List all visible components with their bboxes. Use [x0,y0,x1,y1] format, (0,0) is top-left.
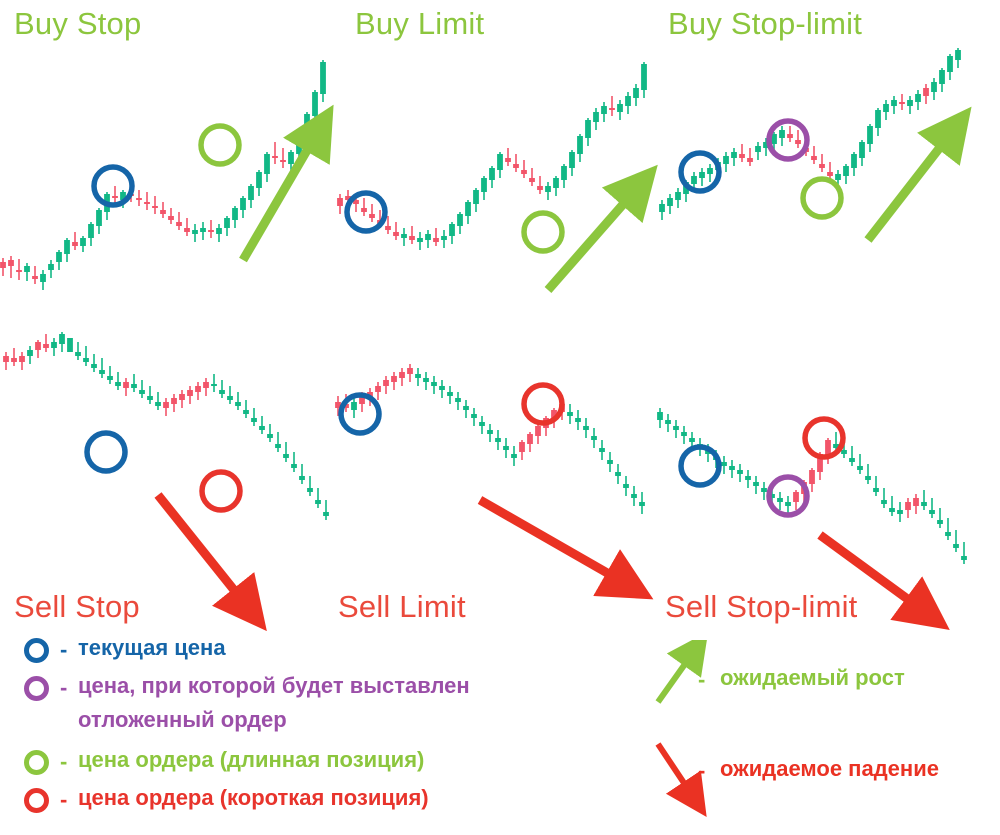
candle-body [407,368,413,374]
arrow-legend-label-growth: ожидаемый рост [720,665,905,691]
candle-body [3,356,9,362]
candle [721,456,727,474]
candle-body [481,178,487,192]
candle-body [417,238,423,242]
candle [537,176,543,194]
candle-body [601,106,607,114]
candle-body [208,230,214,232]
candle [599,440,605,460]
candle-body [639,502,645,506]
candle-body [24,266,30,272]
candle [953,530,959,552]
candle [351,398,357,418]
candle [463,400,469,418]
legend-ring-short-order-price [24,788,49,813]
candle-body [511,454,517,458]
candle [607,452,613,472]
candle-body [59,334,65,344]
candle-body [337,198,343,206]
candle [393,222,399,240]
candle-body [675,192,681,200]
candle-body [937,520,943,524]
trend-arrow-up [243,128,320,260]
candle-body [575,418,581,422]
candle-body [369,214,375,218]
candle-body [64,240,70,254]
candle [731,148,737,166]
marker-short-order-price [524,385,562,423]
legend-item-trigger-price: - цена, при которой будет выставлен [0,670,640,704]
candle-body [272,156,278,158]
candle [593,108,599,130]
candle-body [147,396,153,400]
candle-body [931,82,937,92]
candle [487,424,493,442]
candle [915,90,921,110]
trend-arrow-down [820,535,928,614]
candle-body [535,426,541,436]
candle-body [200,228,206,232]
candle-body [809,470,815,484]
candle-body [32,276,38,279]
legend-dash: - [60,787,67,813]
candle [739,144,745,162]
candle-body [75,352,81,356]
candle-body [641,64,647,90]
candle-body [835,174,841,180]
candle [489,166,495,188]
candle [851,152,857,176]
candle-body [731,152,737,158]
candle [755,142,761,160]
candle [423,372,429,390]
candle [577,134,583,162]
candle-body [447,392,453,396]
candle-body [351,402,357,410]
candle-body [593,112,599,122]
candle-body [136,198,142,200]
marker-long-order-price [201,126,239,164]
candle-body [915,94,921,102]
candle [891,96,897,114]
candle-body [131,384,137,388]
candle [291,452,297,472]
candle [575,410,581,430]
candle [32,266,38,284]
candle-body [569,152,575,168]
candle [521,160,527,178]
candle [24,263,30,281]
candle [59,332,65,352]
candle-body [160,210,166,214]
candle-body [19,356,25,362]
candle [83,346,89,366]
candle-body [755,146,761,152]
candle [535,424,541,444]
candle [152,196,158,214]
candle-body [155,402,161,406]
candle [80,236,86,252]
candle-body [615,472,621,476]
candle-body [455,398,461,402]
legend-ring-current-price [24,638,49,663]
candle-body [51,342,57,348]
candle [216,224,222,242]
candle [19,352,25,370]
candle-body [723,156,729,164]
candle [136,190,142,206]
candle-body [583,426,589,430]
candle-body [441,236,447,240]
candle [665,414,671,432]
candle [447,386,453,404]
candle [315,488,321,508]
candle-body [961,556,967,560]
candle [131,374,137,392]
candle [883,100,889,120]
candle [224,216,230,236]
candle-body [553,178,559,188]
candle [723,152,729,172]
legend-dash: - [60,749,67,775]
marker-long-order-price [524,213,562,251]
trend-arrow-up [868,128,955,240]
candle-body [280,160,286,162]
candle-body [107,376,113,380]
candle-body [841,450,847,454]
candle [641,62,647,98]
candle [43,334,49,352]
candle-body [489,168,495,180]
candle-body [463,406,469,410]
candle-body [267,434,273,438]
candle [897,502,903,522]
candle-body [304,114,310,136]
candle-body [99,370,105,374]
candle-body [224,218,230,228]
candle [195,382,201,400]
candle [200,222,206,240]
candle-body [219,390,225,394]
candle [699,168,705,186]
candle [248,184,254,208]
candle-body [867,126,873,144]
candle-body [67,338,73,352]
candle [675,188,681,208]
arrow-legend-dash: - [698,758,705,784]
candle-body [487,430,493,434]
candle-body [423,378,429,382]
candle [857,454,863,474]
candle [867,124,873,152]
candle [529,168,535,186]
candle-body [851,154,857,168]
candle [251,408,257,426]
candle-body [361,208,367,212]
legend-item-long-order-price: - цена ордера (длинная позиция) [0,744,640,782]
candle [431,376,437,394]
candle-body [35,342,41,350]
legend-dash: - [60,675,67,701]
candle-body [721,462,727,466]
candle-body [673,426,679,430]
legend-label-trigger-price-line2: отложенный ордер [78,707,287,733]
marker-short-order-price [805,419,843,457]
candle [433,228,439,246]
candle [849,446,855,466]
candle [272,142,278,164]
candle [519,440,525,460]
candle [947,54,953,80]
candle [0,258,6,276]
chart-panel-sell-stop-limit [657,408,967,614]
candle-body [913,498,919,506]
candle-body [567,412,573,416]
candle [639,492,645,514]
candle [729,460,735,478]
candle [881,488,887,508]
candle-body [883,104,889,112]
candle [553,176,559,196]
candle [505,148,511,166]
candle-body [793,492,799,502]
candle-body [495,438,501,442]
candle [219,380,225,398]
candle [383,376,389,394]
candle-body [399,372,405,378]
candle-body [144,202,150,204]
candle-body [275,444,281,448]
candle-body [607,460,613,464]
candle [625,92,631,114]
candle-body [152,206,158,208]
candle [569,150,575,176]
candle-body [577,136,583,154]
candle-body [259,426,265,430]
candle [51,338,57,356]
candle [681,426,687,444]
candle-body [291,464,297,468]
candle-body [235,402,241,406]
candle-body [875,110,881,128]
candle-body [8,260,14,266]
candle-body [409,236,415,240]
candle-body [115,382,121,386]
candle [256,170,262,196]
candle [761,482,767,500]
diagram-canvas: Buy Stop Buy Limit Buy Stop-limit Sell S… [0,0,1000,835]
candle-body [139,390,145,394]
candle-body [168,216,174,220]
candle-body [599,448,605,452]
candle-body [312,92,318,116]
candle [155,392,161,410]
candle-body [923,88,929,96]
candle [123,378,129,396]
candle [955,48,961,68]
candle [583,418,589,438]
candle [171,394,177,412]
candle-body [537,186,543,190]
candle-body [320,62,326,94]
candle-body [192,230,198,234]
candle [601,102,607,122]
candle-body [72,242,78,246]
chart-panel-buy-stop [0,60,326,290]
candle [657,408,663,428]
candle [479,416,485,434]
candle [511,446,517,466]
candle-body [401,234,407,238]
candle-body [787,134,793,138]
candle-body [288,152,294,164]
candle-body [631,494,637,498]
candle [785,496,791,514]
candle [617,100,623,120]
candle [545,182,551,200]
candle [235,392,241,410]
candle [107,366,113,384]
candle [67,338,73,352]
candle-body [431,382,437,386]
candle-body [256,172,262,188]
candle [929,498,935,518]
candle-body [921,502,927,506]
candle [8,256,14,278]
candle-body [479,422,485,426]
candle-body [625,96,631,106]
candle [168,208,174,224]
candle [147,386,153,404]
candle [299,464,305,484]
candle [160,202,166,218]
candle-body [795,140,801,144]
candle-body [873,488,879,492]
candle-body [881,500,887,504]
candle [144,192,150,210]
candle-body [27,350,33,356]
candle [240,196,246,218]
candle-body [383,380,389,386]
candle-body [91,364,97,368]
candle-body [112,196,118,198]
candle-body [393,232,399,236]
candle [267,424,273,442]
candle [737,464,743,482]
candle [75,342,81,360]
candle [88,222,94,246]
candle-body [385,226,391,230]
candle [787,126,793,142]
candle-body [907,100,913,106]
candle-body [375,386,381,392]
candle [415,368,421,386]
candle-body [240,198,246,210]
candle-body [591,436,597,440]
arrow-legend-item-growth: - ожидаемый рост [636,640,1000,736]
candle-body [195,386,201,392]
candle [945,518,951,540]
candle [232,206,238,228]
candle-body [0,262,6,268]
arrow-legend-dash: - [698,667,705,693]
candle-body [471,414,477,418]
candle [280,148,286,168]
candle-body [216,228,222,234]
legend-label-trigger-price: цена, при которой будет выставлен [78,673,470,699]
candle [899,94,905,110]
candle-body [457,214,463,226]
candle [931,78,937,100]
candle [320,60,326,102]
arrow-down-icon [636,736,726,826]
candle-body [527,434,533,444]
candle-body [953,544,959,548]
candle [417,232,423,250]
candle [471,408,477,426]
candle [307,476,313,496]
candle-body [56,252,62,262]
candle [187,386,193,404]
candle [465,200,471,224]
candle [777,492,783,510]
candle [503,438,509,458]
candle [99,358,105,378]
candle [659,200,665,220]
candle-body [48,264,54,270]
candle [921,490,927,510]
candle [139,380,145,398]
candle-body [681,432,687,436]
candle-body [83,358,89,362]
candle [615,464,621,484]
candle-body [811,156,817,160]
marker-current-price [87,433,125,471]
candle-body [691,176,697,184]
candle [399,368,405,386]
candle [779,126,785,146]
candle-body [171,398,177,404]
candle-body [40,274,46,282]
candle-body [176,222,182,226]
candle [707,164,713,182]
arrow-up-icon [636,640,726,720]
candle-body [80,238,86,246]
candle-body [929,510,935,514]
candle-body [211,384,217,386]
candle [48,260,54,278]
candle [64,238,70,262]
candle-body [227,396,233,400]
candle-body [947,56,953,72]
candle [825,438,831,464]
trend-arrow-down [480,500,630,586]
candle-body [529,178,535,182]
candle [16,259,22,280]
candle-body [849,458,855,462]
candle [283,442,289,462]
candle-body [609,108,615,110]
candle [913,494,919,514]
legend-dash: - [60,637,67,663]
candle [819,154,825,172]
marker-legend: - текущая цена - цена, при которой будет… [0,632,640,820]
candle-body [745,476,751,480]
candle [455,392,461,410]
legend-ring-trigger-price [24,676,49,701]
candle-body [11,358,17,362]
candle-body [939,70,945,84]
